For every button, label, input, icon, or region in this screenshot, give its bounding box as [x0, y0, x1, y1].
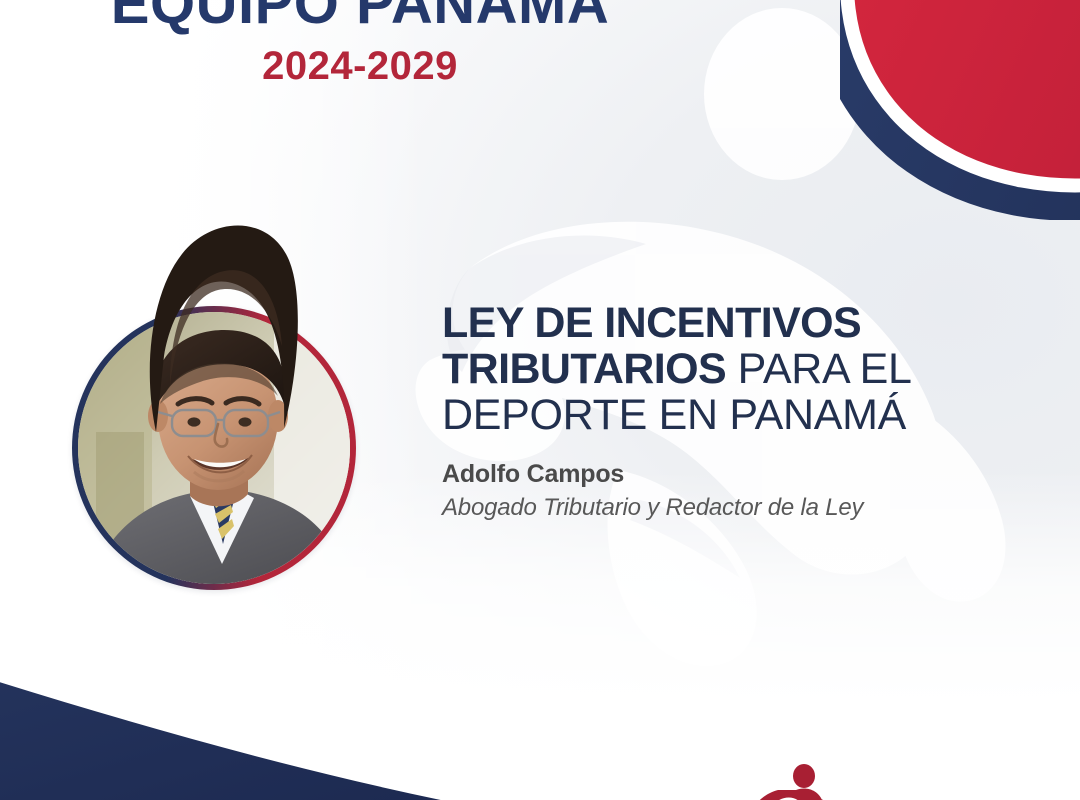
- poster-canvas: EQUIPO PANAMÁ 2024-2029: [0, 0, 1080, 800]
- running-figure-logo: [744, 762, 840, 800]
- portrait-photo: [78, 312, 350, 584]
- speaker-portrait: [72, 196, 362, 616]
- headline: LEY DE INCENTIVOS TRIBUTARIOS PARA EL DE…: [442, 300, 1022, 438]
- portrait-image: [78, 312, 350, 584]
- page-title-years: 2024-2029: [0, 46, 720, 86]
- speaker-name: Adolfo Campos: [442, 460, 1022, 489]
- page-title: EQUIPO PANAMÁ: [0, 0, 720, 34]
- speaker-role: Abogado Tributario y Redactor de la Ley: [442, 494, 1022, 522]
- header-block: EQUIPO PANAMÁ 2024-2029: [0, 0, 720, 86]
- headline-block: LEY DE INCENTIVOS TRIBUTARIOS PARA EL DE…: [442, 300, 1022, 522]
